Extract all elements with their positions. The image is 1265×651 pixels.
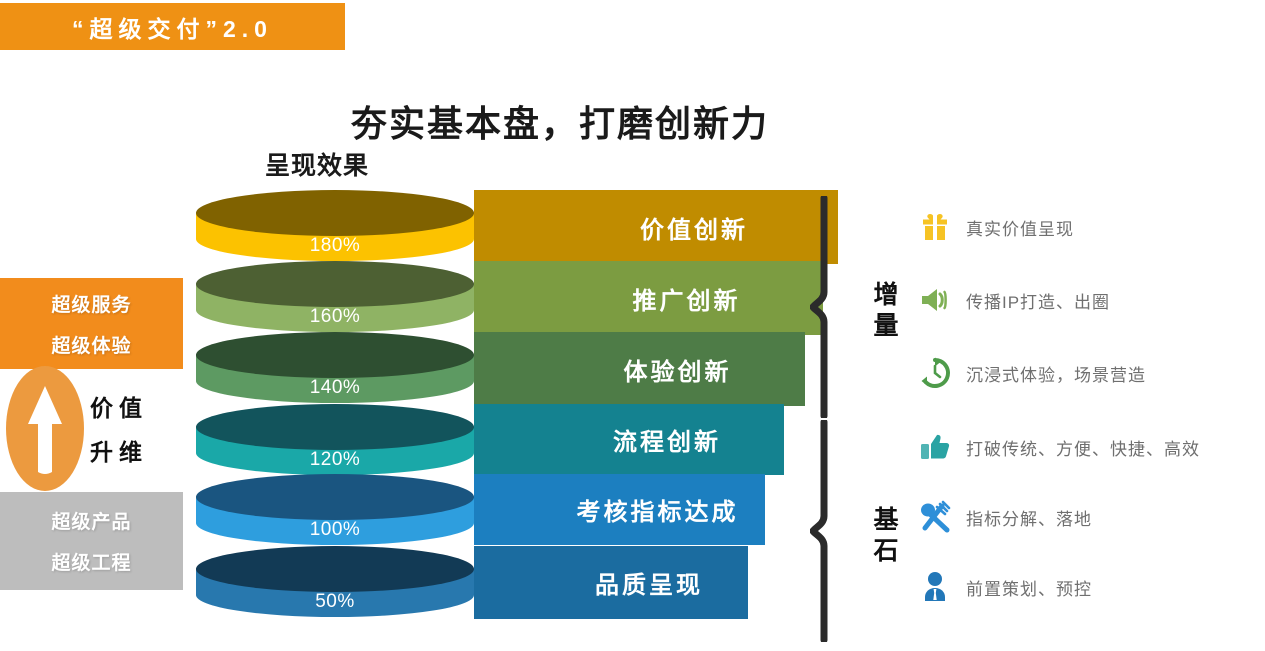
bullet-item: 真实价值呈现 [918, 210, 1074, 244]
slide-canvas: “超级交付”2.0 夯实基本盘，打磨创新力 呈现效果 超级服务 超级体验 价值 … [0, 0, 1265, 651]
cylinder-stack-chart: 价值创新180%推广创新160%体验创新140%流程创新120%考核指标达成10… [0, 0, 1265, 651]
cylinder-top [196, 404, 474, 450]
group-label-foundation: 基石 [866, 506, 902, 568]
bullet-text: 传播IP打造、出圈 [966, 288, 1110, 313]
chart-bar: 体验创新 [474, 332, 805, 406]
chart-bar-label: 推广创新 [633, 281, 741, 316]
brace-lower [810, 420, 858, 642]
cylinder-top [196, 474, 474, 520]
chart-bar-label: 品质呈现 [595, 565, 703, 600]
bullet-text: 真实价值呈现 [966, 215, 1074, 240]
chart-bar-label: 体验创新 [624, 352, 732, 387]
bullet-text: 打破传统、方便、快捷、高效 [966, 435, 1200, 460]
chart-bar: 品质呈现 [474, 546, 748, 619]
chart-bar-label: 价值创新 [640, 210, 748, 245]
bullet-item: 打破传统、方便、快捷、高效 [918, 430, 1200, 464]
bullet-text: 沉浸式体验，场景营造 [966, 361, 1146, 386]
person-icon [918, 570, 952, 604]
cylinder-top [196, 546, 474, 592]
cylinder-top [196, 332, 474, 378]
megaphone-icon [918, 283, 952, 317]
cylinder-top [196, 190, 474, 236]
chart-bar-label: 流程创新 [613, 422, 721, 457]
chart-bar: 推广创新 [474, 261, 823, 335]
gift-icon [918, 210, 952, 244]
chart-bar: 考核指标达成 [474, 474, 765, 545]
bullet-item: 指标分解、落地 [918, 500, 1092, 534]
bullet-item: 传播IP打造、出圈 [918, 283, 1110, 317]
cylinder-top [196, 261, 474, 307]
fork-spoon-icon [918, 500, 952, 534]
refresh-clock-icon [918, 356, 952, 390]
chart-bar: 流程创新 [474, 404, 784, 475]
bullet-item: 前置策划、预控 [918, 570, 1092, 604]
group-label-increment: 增量 [866, 281, 902, 343]
chart-bar: 价值创新 [474, 190, 838, 264]
chart-cylinder: 50% [196, 546, 474, 640]
bullet-text: 前置策划、预控 [966, 575, 1092, 600]
bullet-text: 指标分解、落地 [966, 505, 1092, 530]
thumbs-up-icon [918, 430, 952, 464]
bullet-item: 沉浸式体验，场景营造 [918, 356, 1146, 390]
brace-upper [810, 196, 858, 418]
chart-bar-label: 考核指标达成 [577, 492, 739, 527]
